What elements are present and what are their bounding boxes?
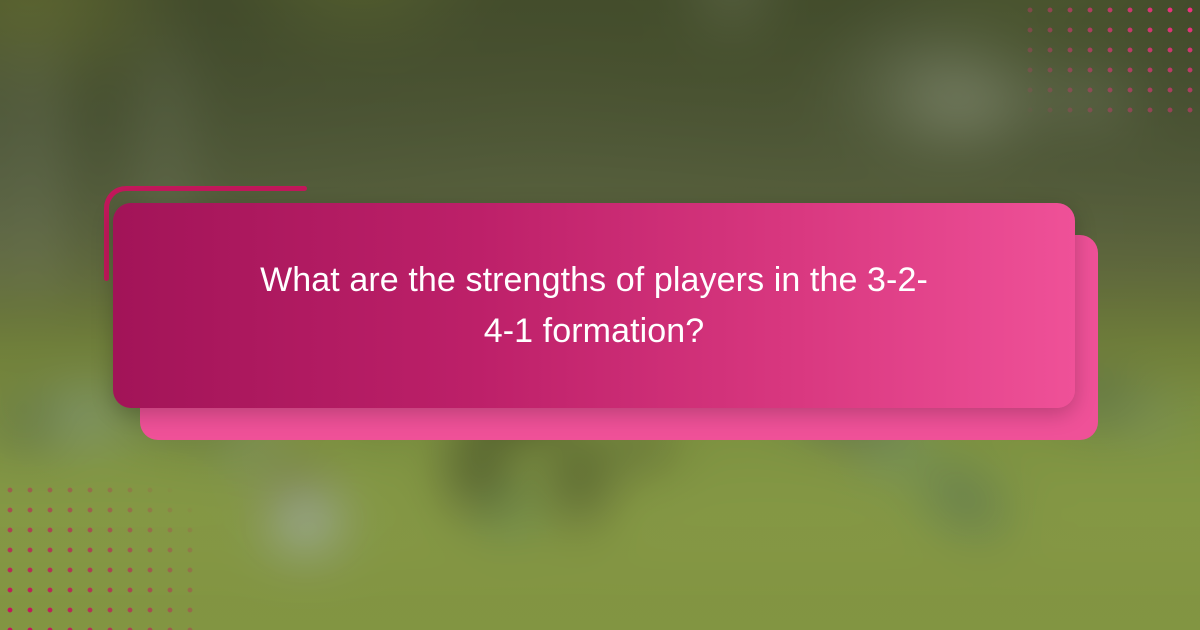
halftone-dots-top-right bbox=[1020, 0, 1200, 120]
question-text: What are the strengths of players in the… bbox=[214, 255, 974, 356]
question-card: What are the strengths of players in the… bbox=[113, 203, 1075, 408]
halftone-dots-bottom-left bbox=[0, 480, 200, 630]
slide-canvas: What are the strengths of players in the… bbox=[0, 0, 1200, 630]
